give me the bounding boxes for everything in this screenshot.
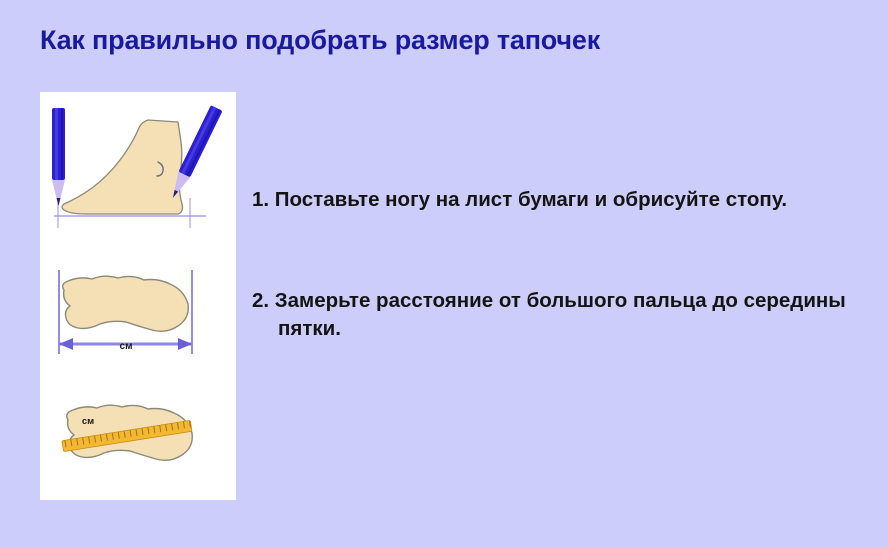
figure-foot-profile-with-pencils (40, 94, 236, 236)
slide: Как правильно подобрать размер тапочек (0, 0, 888, 548)
pencil-left (52, 108, 65, 206)
step-item-2: 2. Замерьте расстояние от большого пальц… (252, 287, 876, 342)
tape-label-cm: см (82, 416, 94, 427)
page-title: Как правильно подобрать размер тапочек (40, 25, 600, 56)
steps-list: 1. Поставьте ногу на лист бумаги и обрис… (252, 186, 876, 342)
figure-footprint-outline-with-dimension: см (40, 252, 236, 362)
illustration-panel: см см (40, 92, 236, 500)
dimension-label-cm: см (120, 341, 133, 352)
step-item-1: 1. Поставьте ногу на лист бумаги и обрис… (252, 186, 876, 213)
figure-footprint-with-measuring-tape: см (40, 380, 236, 490)
